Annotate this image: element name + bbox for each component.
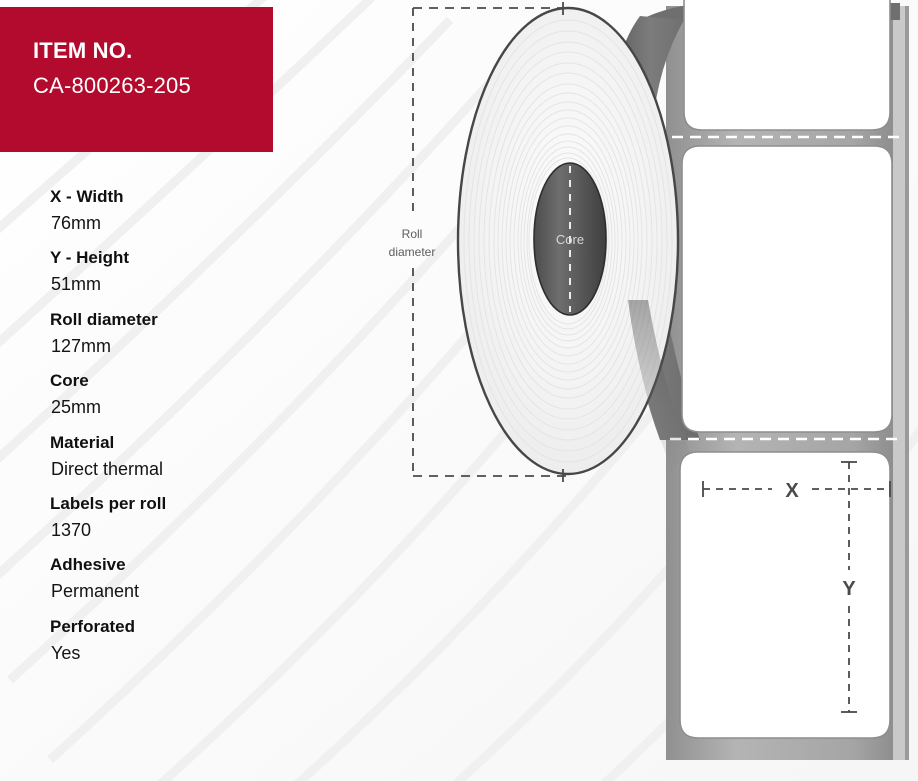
spec-label-height: Y - Height [50, 247, 310, 269]
spec-value-width: 76mm [51, 211, 310, 235]
spec-label-adhesive: Adhesive [50, 554, 310, 576]
label-face-middle [682, 146, 892, 432]
item-number-title: ITEM NO. [33, 37, 273, 65]
roll-body: Core [458, 8, 678, 474]
spec-value-labels-per-roll: 1370 [51, 518, 310, 542]
spec-label-perforated: Perforated [50, 616, 310, 638]
label-stack [670, 0, 901, 738]
spec-label-width: X - Width [50, 186, 310, 208]
spec-row-height: Y - Height 51mm [50, 247, 310, 296]
roll-diameter-label-line1: Roll [402, 227, 423, 241]
spec-label-labels-per-roll: Labels per roll [50, 493, 310, 515]
product-spec-page: Core Roll diameter [0, 0, 918, 781]
spec-value-adhesive: Permanent [51, 579, 310, 603]
spec-value-roll-diameter: 127mm [51, 334, 310, 358]
spec-value-perforated: Yes [51, 641, 310, 665]
spec-label-core: Core [50, 370, 310, 392]
spec-value-material: Direct thermal [51, 457, 310, 481]
width-axis-label: X [785, 480, 799, 502]
spec-value-core: 25mm [51, 395, 310, 419]
spec-row-perforated: Perforated Yes [50, 616, 310, 665]
spec-value-height: 51mm [51, 272, 310, 296]
specification-list: X - Width 76mm Y - Height 51mm Roll diam… [50, 186, 310, 677]
core-label: Core [556, 232, 584, 247]
height-axis-label: Y [842, 578, 856, 600]
spec-row-core: Core 25mm [50, 370, 310, 419]
spec-row-adhesive: Adhesive Permanent [50, 554, 310, 603]
label-face-top [684, 0, 890, 130]
spec-label-material: Material [50, 432, 310, 454]
spec-row-labels-per-roll: Labels per roll 1370 [50, 493, 310, 542]
item-number-value: CA-800263-205 [33, 71, 273, 101]
spec-row-width: X - Width 76mm [50, 186, 310, 235]
item-number-banner: ITEM NO. CA-800263-205 [0, 7, 273, 152]
spec-label-roll-diameter: Roll diameter [50, 309, 310, 331]
roll-diameter-label-line2: diameter [389, 245, 436, 259]
spec-row-roll-diameter: Roll diameter 127mm [50, 309, 310, 358]
spec-row-material: Material Direct thermal [50, 432, 310, 481]
